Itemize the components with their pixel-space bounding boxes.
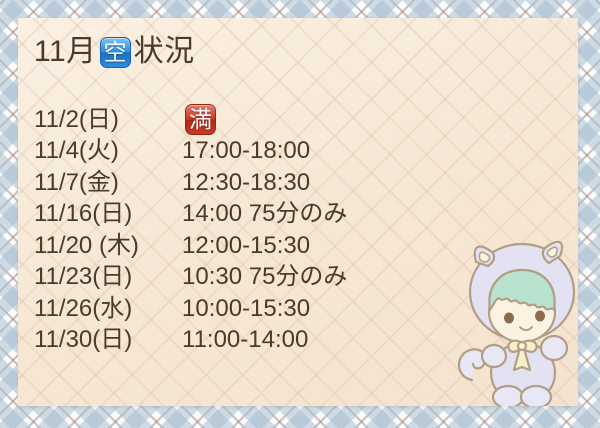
squared-full-icon: 満	[185, 104, 216, 135]
schedule-row: 11/26(水)10:00-15:30	[34, 293, 454, 325]
schedule-time: 17:00-18:00	[182, 139, 310, 163]
schedule-time: 11:00-14:00	[182, 328, 308, 352]
schedule-time: 12:00-15:30	[182, 234, 310, 258]
screenshot-root: 11月 空 状況 11/2(日)満11/4(火)17:00-18:0011/7(…	[0, 0, 600, 428]
schedule-card: 11月 空 状況 11/2(日)満11/4(火)17:00-18:0011/7(…	[18, 18, 578, 406]
schedule-date: 11/23(日)	[34, 265, 182, 289]
schedule-row: 11/20 (木)12:00-15:30	[34, 230, 454, 262]
schedule-date: 11/2(日)	[34, 108, 182, 132]
schedule-row: 11/30(日)11:00-14:00	[34, 325, 454, 357]
twin-star-cat-character	[450, 230, 578, 406]
schedule-date: 11/7(金)	[34, 171, 182, 195]
schedule-date: 11/16(日)	[34, 202, 182, 226]
schedule-row: 11/23(日)10:30 75分のみ	[34, 262, 454, 294]
schedule-date: 11/4(火)	[34, 139, 182, 163]
title-prefix: 11月	[34, 37, 97, 67]
schedule-row: 11/2(日)満	[34, 104, 454, 136]
schedule-time: 10:30 75分のみ	[182, 265, 347, 289]
schedule-date: 11/26(水)	[34, 297, 182, 321]
schedule-date: 11/20 (木)	[34, 234, 182, 258]
schedule-date: 11/30(日)	[34, 328, 182, 352]
schedule-list: 11/2(日)満11/4(火)17:00-18:0011/7(金)12:30-1…	[34, 104, 454, 356]
schedule-row: 11/7(金)12:30-18:30	[34, 167, 454, 199]
schedule-time: 満	[182, 104, 219, 135]
squared-vacancy-icon: 空	[100, 37, 131, 68]
schedule-time: 12:30-18:30	[182, 171, 310, 195]
page-title: 11月 空 状況	[34, 32, 195, 72]
schedule-row: 11/16(日)14:00 75分のみ	[34, 199, 454, 231]
schedule-time: 14:00 75分のみ	[182, 202, 347, 226]
title-suffix: 状況	[134, 37, 195, 67]
schedule-row: 11/4(火)17:00-18:00	[34, 136, 454, 168]
schedule-time: 10:00-15:30	[182, 297, 310, 321]
